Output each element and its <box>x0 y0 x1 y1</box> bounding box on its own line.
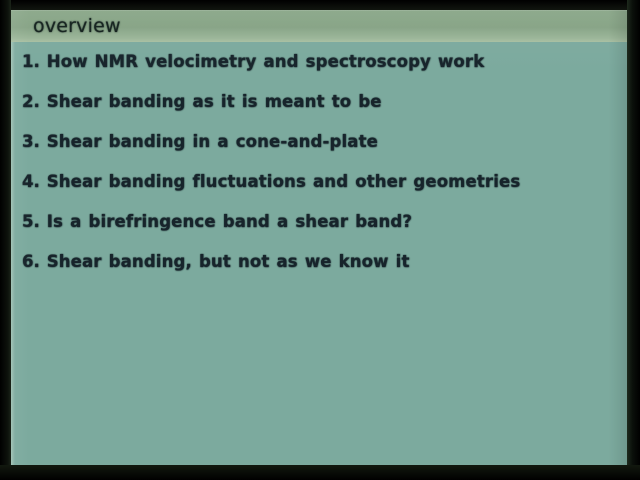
list-item-number: 4. <box>22 172 40 192</box>
slide-title-band: overview <box>11 10 627 42</box>
overview-list: 1. How NMR velocimetry and spectroscopy … <box>11 42 627 282</box>
letterbox-bottom <box>0 465 640 480</box>
slide-title: overview <box>33 14 121 38</box>
list-item: 5. Is a birefringence band a shear band? <box>11 202 627 242</box>
list-item-label: Shear banding fluctuations and other geo… <box>47 172 521 192</box>
letterbox-left <box>0 0 11 480</box>
slide: overview 1. How NMR velocimetry and spec… <box>11 10 627 465</box>
list-item-label: Is a birefringence band a shear band? <box>47 212 412 232</box>
list-item-label: Shear banding as it is meant to be <box>47 92 382 112</box>
list-item: 4. Shear banding fluctuations and other … <box>11 162 627 202</box>
list-item: 3. Shear banding in a cone-and-plate <box>11 122 627 162</box>
list-item-number: 6. <box>22 252 40 272</box>
list-item-label: Shear banding, but not as we know it <box>47 252 410 272</box>
list-item: 2. Shear banding as it is meant to be <box>11 82 627 122</box>
letterbox-top <box>0 0 640 10</box>
list-item: 1. How NMR velocimetry and spectroscopy … <box>11 42 627 82</box>
presentation-screen: overview 1. How NMR velocimetry and spec… <box>0 0 640 480</box>
letterbox-right <box>627 0 640 480</box>
list-item: 6. Shear banding, but not as we know it <box>11 242 627 282</box>
list-item-number: 2. <box>22 92 40 112</box>
list-item-number: 5. <box>22 212 40 232</box>
list-item-label: Shear banding in a cone-and-plate <box>47 132 378 152</box>
list-item-number: 1. <box>22 52 40 72</box>
list-item-label: How NMR velocimetry and spectroscopy wor… <box>47 52 485 72</box>
list-item-number: 3. <box>22 132 40 152</box>
